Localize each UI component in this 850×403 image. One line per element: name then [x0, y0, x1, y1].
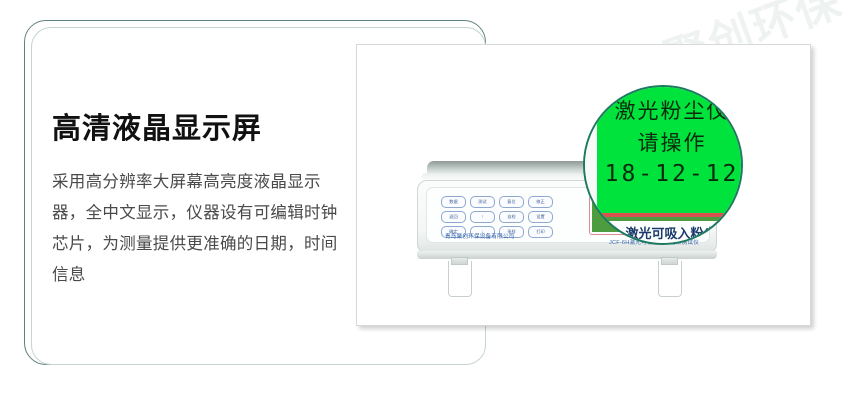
leg-wire-left — [448, 261, 472, 297]
info-card-description: 采用高分辨率大屏幕高亮度液晶显示器，全中文显示，仪器设有可编辑时钟芯片，为测量提… — [52, 167, 342, 291]
key-data[interactable]: 数据 — [441, 196, 466, 208]
key-settings[interactable]: 设置 — [528, 211, 553, 223]
product-photo-panel: 数据 测试 复位 修正 返回 ↑ 自检 设置 确定 ↓ 采样 打印 青岛聚创环保… — [356, 44, 811, 326]
lcd-text-line-2: 请操作 — [597, 127, 743, 157]
key-reset[interactable]: 复位 — [499, 196, 524, 208]
key-test[interactable]: 测试 — [470, 196, 495, 208]
device-stand-leg-right — [658, 257, 682, 297]
lcd-text-date: 18-12-12 — [597, 161, 743, 187]
lcd-magnifier-circle: 激光粉尘仪 请操作 18-12-12 激光可吸入粉尘 — [583, 85, 743, 245]
key-arrow-up[interactable]: ↑ — [470, 211, 495, 223]
key-back[interactable]: 返回 — [441, 211, 466, 223]
key-selftest[interactable]: 自检 — [499, 211, 524, 223]
key-correct[interactable]: 修正 — [528, 196, 553, 208]
leg-wire-right — [658, 261, 682, 297]
magnified-caption: 激光可吸入粉尘 — [591, 223, 743, 242]
info-card-content: 高清液晶显示屏 采用高分辨率大屏幕高亮度液晶显示器，全中文显示，仪器设有可编辑时… — [52, 112, 342, 291]
device-brand-text: 青岛聚创环保设备有限公司 — [445, 232, 515, 240]
page-title: 高清液晶显示屏 — [52, 112, 342, 147]
lcd-text-line-1: 激光粉尘仪 — [597, 95, 743, 125]
key-print[interactable]: 打印 — [528, 226, 553, 238]
device-stand-leg-left — [448, 257, 472, 297]
